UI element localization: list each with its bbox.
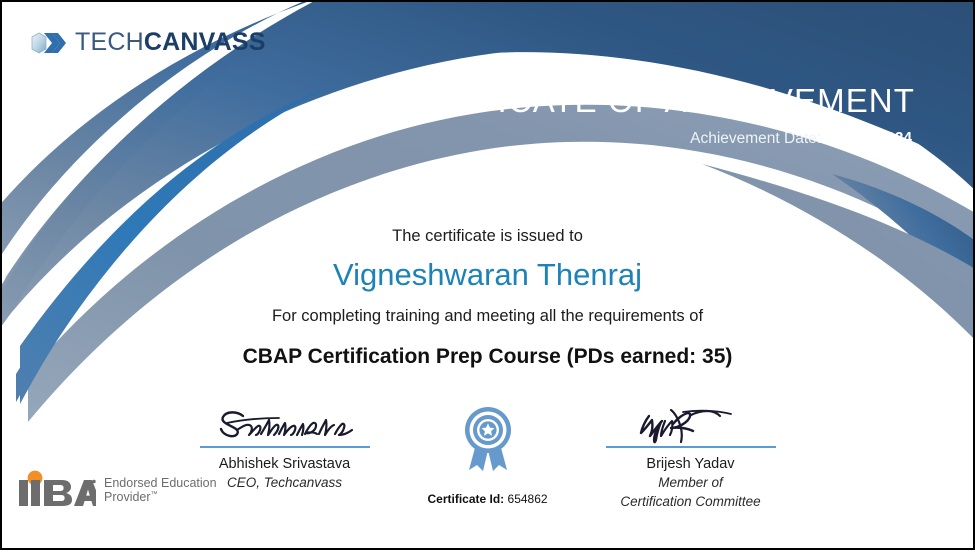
- iiba-endorsement-text: Endorsed Education Provider™: [104, 476, 217, 505]
- requirements-label: For completing training and meeting all …: [2, 307, 973, 327]
- signature-scribble-brijesh: [600, 400, 782, 444]
- certificate-body: The certificate is issued to Vigneshwara…: [2, 227, 973, 369]
- iiba-endorsement-badge: Endorsed Education Provider™: [14, 470, 217, 510]
- brand-name-bold: CANVASS: [144, 28, 266, 56]
- handwritten-signature-icon: [209, 404, 361, 444]
- certificate-id: Certificate Id: 654862: [428, 492, 548, 506]
- signatory-name: Abhishek Srivastava: [194, 455, 376, 473]
- page-title: CERTIFICATE OF ACHIEVEMENT: [372, 84, 915, 119]
- achievement-date-value: 07 Feb 2024: [824, 130, 912, 147]
- achievement-date-label: Achievement Date:: [690, 130, 821, 147]
- signature-block-ceo: Abhishek Srivastava CEO, Techcanvass: [194, 400, 376, 492]
- iiba-endorsement-line2: Provider™: [104, 490, 217, 504]
- signature-scribble-abhishek: [194, 400, 376, 444]
- brand-logo: TECHCANVASS: [30, 30, 266, 55]
- certificate-id-label: Certificate Id:: [428, 492, 505, 506]
- achievement-date: Achievement Date:07 Feb 2024: [372, 130, 915, 148]
- signatory-role-line1: Member of: [600, 474, 782, 492]
- certificate-canvas: TECHCANVASS CERTIFICATE OF ACHIEVEMENT A…: [0, 0, 975, 550]
- medal-block: Certificate Id: 654862: [428, 400, 548, 506]
- recipient-name: Vigneshwaran Thenraj: [2, 256, 973, 293]
- signatory-name: Brijesh Yadav: [600, 455, 782, 473]
- signature-block-committee: Brijesh Yadav Member of Certification Co…: [600, 400, 782, 510]
- award-ribbon-icon: [457, 404, 519, 476]
- course-name: CBAP Certification Prep Course (PDs earn…: [2, 344, 973, 369]
- signature-rule: [606, 446, 776, 448]
- iiba-logo-icon: [14, 470, 96, 510]
- signatory-role-line2: Certification Committee: [600, 493, 782, 511]
- handwritten-signature-icon: [625, 402, 757, 444]
- certificate-id-value: 654862: [508, 492, 548, 506]
- header-titles: CERTIFICATE OF ACHIEVEMENT Achievement D…: [372, 84, 915, 148]
- issued-to-label: The certificate is issued to: [2, 227, 973, 247]
- brand-name-light: TECH: [75, 28, 144, 56]
- signature-rule: [200, 446, 370, 448]
- signatory-role: CEO, Techcanvass: [194, 474, 376, 492]
- techcanvass-chevron-icon: [30, 31, 68, 55]
- iiba-endorsement-line1: Endorsed Education: [104, 476, 217, 490]
- brand-wordmark: TECHCANVASS: [75, 30, 266, 55]
